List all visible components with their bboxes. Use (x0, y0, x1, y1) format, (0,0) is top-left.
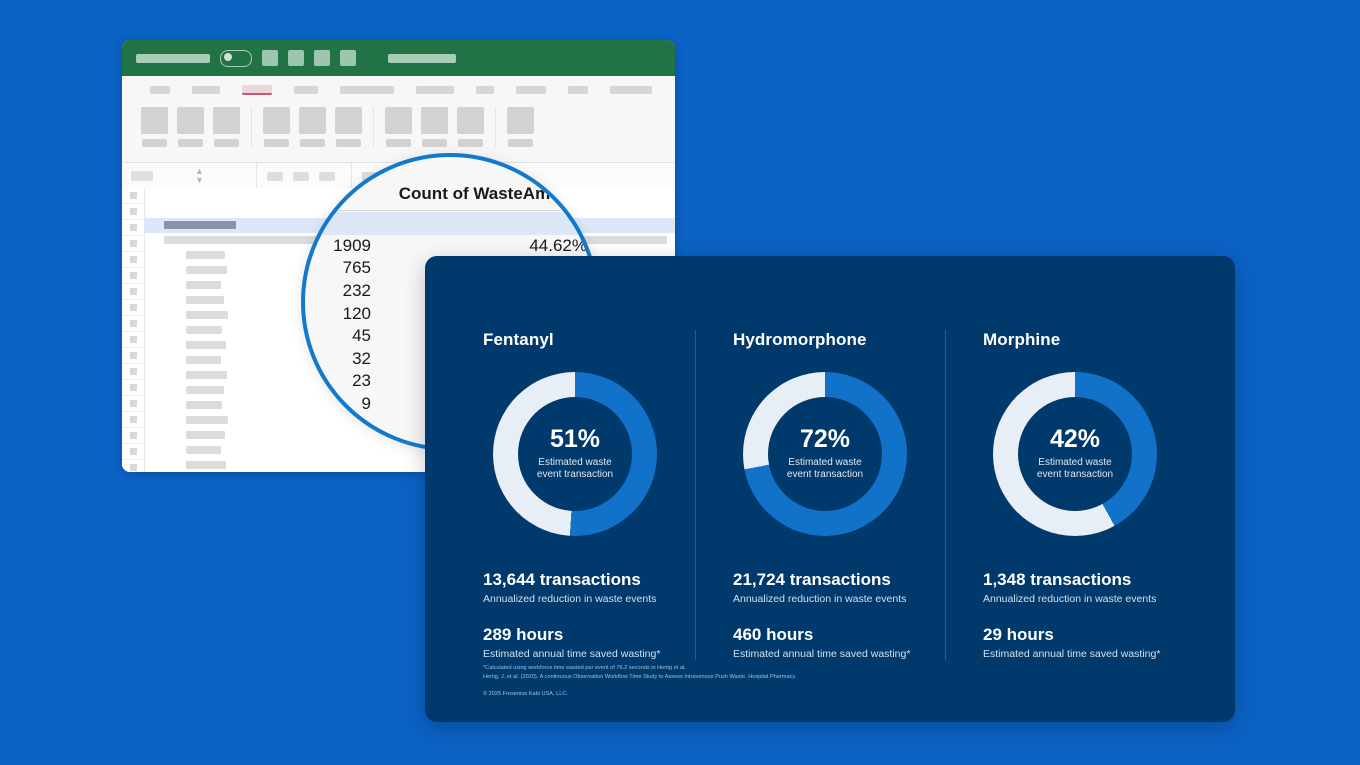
transactions-value: 21,724 transactions (733, 570, 929, 590)
row-header-cell[interactable] (122, 396, 144, 412)
waste-count-value: 45 (319, 326, 371, 346)
ribbon-button-3[interactable] (213, 107, 240, 147)
ribbon-tab-4[interactable] (294, 86, 318, 94)
toolbar-chip-1[interactable] (267, 172, 283, 181)
donut-chart: 51%Estimated wasteevent transaction (493, 372, 657, 536)
donut-chart: 72%Estimated wasteevent transaction (743, 372, 907, 536)
donut-percent-value: 42% (1050, 427, 1100, 452)
row-header-cell[interactable] (122, 348, 144, 364)
titlebar-icon-2[interactable] (288, 50, 304, 66)
donut-caption-line-2: event transaction (1037, 469, 1113, 480)
donut-caption-line-1: Estimated waste (1038, 457, 1111, 468)
donut-caption-line-1: Estimated waste (788, 457, 861, 468)
ribbon-tab-10[interactable] (610, 86, 652, 94)
waste-count-value: 232 (319, 281, 371, 301)
ribbon-group-4 (496, 107, 545, 147)
transactions-value: 1,348 transactions (983, 570, 1179, 590)
row-header-cell[interactable] (122, 220, 144, 236)
metric-column-morphine: Morphine42%Estimated wasteevent transact… (945, 330, 1195, 660)
ribbon-groups (122, 95, 675, 147)
ribbon-group-3 (374, 107, 496, 147)
row-header-column (122, 188, 145, 472)
ribbon (122, 76, 675, 163)
titlebar-filename-placeholder (388, 54, 456, 63)
row-header-cell[interactable] (122, 188, 144, 204)
ribbon-button-5[interactable] (299, 107, 326, 147)
donut-caption-line-2: event transaction (787, 469, 863, 480)
waste-count-value: 765 (319, 258, 371, 278)
row-header-cell[interactable] (122, 364, 144, 380)
ribbon-tab-7[interactable] (476, 86, 494, 94)
name-box-placeholder[interactable] (131, 171, 153, 181)
metric-column-fentanyl: Fentanyl51%Estimated wasteevent transact… (483, 330, 695, 660)
hours-stat: 289 hoursEstimated annual time saved was… (483, 625, 679, 660)
waste-percent-value: 44.62% (529, 236, 587, 256)
donut-center: 72%Estimated wasteevent transaction (768, 397, 882, 511)
hours-value: 460 hours (733, 625, 929, 645)
donut-caption-line-1: Estimated waste (538, 457, 611, 468)
row-header-cell[interactable] (122, 300, 144, 316)
row-header-cell[interactable] (122, 444, 144, 460)
ribbon-tab-2[interactable] (192, 86, 220, 94)
ribbon-group-1 (130, 107, 252, 147)
results-panel: Fentanyl51%Estimated wasteevent transact… (425, 256, 1235, 722)
hours-value: 289 hours (483, 625, 679, 645)
row-header-cell[interactable] (122, 460, 144, 472)
ribbon-button-6[interactable] (335, 107, 362, 147)
donut-percent-value: 51% (550, 427, 600, 452)
hours-stat: 29 hoursEstimated annual time saved wast… (983, 625, 1179, 660)
transactions-label: Annualized reduction in waste events (983, 593, 1179, 605)
copyright-line: © 2025 Fresenius Kabi USA, LLC. (483, 690, 796, 700)
transactions-stat: 1,348 transactionsAnnualized reduction i… (983, 570, 1179, 605)
row-header-cell[interactable] (122, 332, 144, 348)
ribbon-tab-active[interactable] (242, 85, 272, 95)
ribbon-button-7[interactable] (385, 107, 412, 147)
ribbon-tab-6[interactable] (416, 86, 454, 94)
ribbon-tab-1[interactable] (150, 86, 170, 94)
ribbon-button-8[interactable] (421, 107, 448, 147)
transactions-value: 13,644 transactions (483, 570, 679, 590)
drug-name-heading: Hydromorphone (733, 330, 929, 350)
row-header-cell[interactable] (122, 380, 144, 396)
waste-count-value: 9 (319, 394, 371, 414)
ribbon-tab-9[interactable] (568, 86, 588, 94)
ribbon-button-1[interactable] (141, 107, 168, 147)
ribbon-button-2[interactable] (177, 107, 204, 147)
hours-label: Estimated annual time saved wasting* (483, 648, 679, 660)
donut-percent-value: 72% (800, 427, 850, 452)
titlebar-icon-1[interactable] (262, 50, 278, 66)
magnified-table-header: nt Count of WasteAmount (305, 180, 595, 211)
ribbon-button-9[interactable] (457, 107, 484, 147)
titlebar-label-placeholder (136, 54, 210, 63)
hours-label: Estimated annual time saved wasting* (733, 648, 929, 660)
row-header-cell[interactable] (122, 236, 144, 252)
drug-name-heading: Morphine (983, 330, 1179, 350)
row-header-cell[interactable] (122, 412, 144, 428)
titlebar-toggle[interactable] (220, 50, 252, 67)
donut-caption: Estimated wasteevent transaction (1037, 457, 1113, 482)
column-header-count-of-wasteamount: Count of WasteAmount (399, 184, 587, 204)
donut-caption-line-2: event transaction (537, 469, 613, 480)
ribbon-tab-strip (122, 76, 675, 95)
ribbon-tab-8[interactable] (516, 86, 546, 94)
donut-caption: Estimated wasteevent transaction (537, 457, 613, 482)
hours-value: 29 hours (983, 625, 1179, 645)
transactions-label: Annualized reduction in waste events (483, 593, 679, 605)
waste-count-value: 1909 (319, 236, 371, 256)
transactions-stat: 21,724 transactionsAnnualized reduction … (733, 570, 929, 605)
ribbon-button-10[interactable] (507, 107, 534, 147)
selected-row-highlight (305, 212, 595, 235)
metric-columns: Fentanyl51%Estimated wasteevent transact… (483, 330, 1195, 660)
transactions-stat: 13,644 transactionsAnnualized reduction … (483, 570, 679, 605)
row-header-cell[interactable] (122, 268, 144, 284)
footnote-line-2: Hertig, J. et al. (2020). A continuous O… (483, 674, 796, 680)
ribbon-group-2 (252, 107, 374, 147)
row-header-cell[interactable] (122, 316, 144, 332)
donut-center: 51%Estimated wasteevent transaction (518, 397, 632, 511)
row-header-cell[interactable] (122, 284, 144, 300)
waste-count-value: 23 (319, 371, 371, 391)
waste-count-value: 32 (319, 349, 371, 369)
window-titlebar (122, 40, 675, 76)
ribbon-button-4[interactable] (263, 107, 290, 147)
footnote: *Calculated using workforce time wasted … (483, 664, 796, 700)
row-header-cell[interactable] (122, 428, 144, 444)
row-header-cell[interactable] (122, 252, 144, 268)
hours-label: Estimated annual time saved wasting* (983, 648, 1179, 660)
drug-name-heading: Fentanyl (483, 330, 679, 350)
transactions-label: Annualized reduction in waste events (733, 593, 929, 605)
waste-count-value: 120 (319, 304, 371, 324)
footnote-line-1: *Calculated using workforce time wasted … (483, 665, 686, 671)
titlebar-icon-3[interactable] (314, 50, 330, 66)
donut-center: 42%Estimated wasteevent transaction (1018, 397, 1132, 511)
toolbar-divider-1 (256, 163, 257, 189)
hours-stat: 460 hoursEstimated annual time saved was… (733, 625, 929, 660)
ribbon-tab-5[interactable] (340, 86, 394, 94)
donut-chart: 42%Estimated wasteevent transaction (993, 372, 1157, 536)
titlebar-icon-4[interactable] (340, 50, 356, 66)
column-header-left: nt (319, 184, 335, 204)
chevron-up-down-icon[interactable]: ▲▼ (195, 167, 204, 185)
row-header-cell[interactable] (122, 204, 144, 220)
magnified-table-row[interactable]: 190944.62% (305, 235, 595, 258)
metric-column-hydromorphone: Hydromorphone72%Estimated wasteevent tra… (695, 330, 945, 660)
donut-caption: Estimated wasteevent transaction (787, 457, 863, 482)
